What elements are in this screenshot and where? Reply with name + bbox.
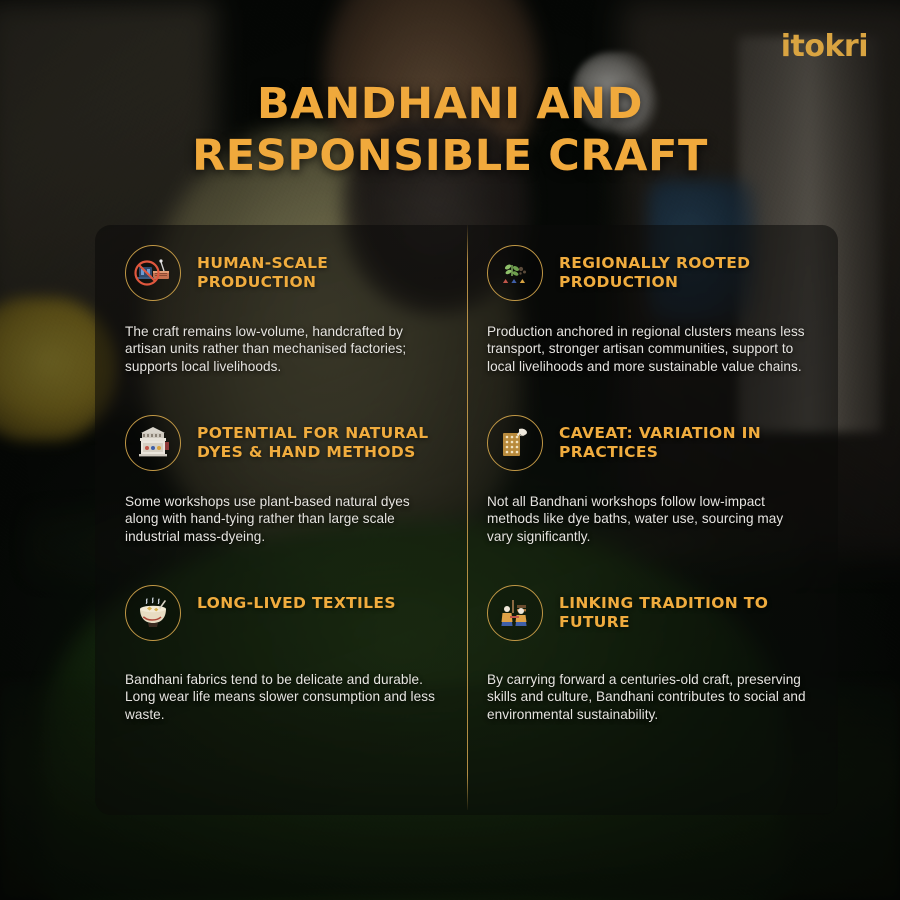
workshop-building-icon (125, 415, 181, 471)
card-body: By carrying forward a centuries-old craf… (487, 671, 812, 723)
itokri-logo[interactable]: itokri (781, 32, 868, 62)
card-body: Bandhani fabrics tend to be delicate and… (125, 671, 441, 723)
card-header: REGIONALLY ROOTED PRODUCTION (487, 245, 812, 301)
card-caveat-variation-in-practices: CAVEAT: VARIATION IN PRACTICES Not all B… (467, 395, 838, 565)
card-title: LONG-LIVED TEXTILES (197, 585, 396, 613)
no-factory-machine-icon (125, 245, 181, 301)
card-header: LONG-LIVED TEXTILES (125, 585, 441, 641)
card-title: CAVEAT: VARIATION IN PRACTICES (559, 415, 812, 462)
card-title: LINKING TRADITION TO FUTURE (559, 585, 812, 632)
card-long-lived-textiles: LONG-LIVED TEXTILES Bandhani fabrics ten… (95, 565, 467, 815)
title-line-1: BANDHANI AND (90, 78, 810, 130)
card-linking-tradition-to-future: LINKING TRADITION TO FUTURE By carrying … (467, 565, 838, 815)
card-human-scale-production: HUMAN-SCALE PRODUCTION The craft remains… (95, 225, 467, 395)
card-header: LINKING TRADITION TO FUTURE (487, 585, 812, 641)
card-title: POTENTIAL FOR NATURAL DYES & HAND METHOD… (197, 415, 441, 462)
card-header: CAVEAT: VARIATION IN PRACTICES (487, 415, 812, 471)
hand-holding-fabric-icon (487, 415, 543, 471)
card-body: Not all Bandhani workshops follow low-im… (487, 493, 812, 545)
card-body: The craft remains low-volume, handcrafte… (125, 323, 441, 375)
card-title: REGIONALLY ROOTED PRODUCTION (559, 245, 812, 292)
cards-grid: HUMAN-SCALE PRODUCTION The craft remains… (95, 225, 838, 815)
logo-text: itokri (781, 29, 868, 64)
page-title: BANDHANI AND RESPONSIBLE CRAFT (0, 78, 900, 183)
card-natural-dyes-hand-methods: POTENTIAL FOR NATURAL DYES & HAND METHOD… (95, 395, 467, 565)
card-header: HUMAN-SCALE PRODUCTION (125, 245, 441, 301)
card-body: Production anchored in regional clusters… (487, 323, 812, 375)
card-title: HUMAN-SCALE PRODUCTION (197, 245, 441, 292)
artisans-weaving-icon (487, 585, 543, 641)
dye-pot-icon (125, 585, 181, 641)
card-header: POTENTIAL FOR NATURAL DYES & HAND METHOD… (125, 415, 441, 471)
card-regionally-rooted-production: REGIONALLY ROOTED PRODUCTION Production … (467, 225, 838, 395)
card-body: Some workshops use plant-based natural d… (125, 493, 441, 545)
sprout-plant-icon (487, 245, 543, 301)
title-line-2: RESPONSIBLE CRAFT (90, 130, 810, 182)
content-panel: HUMAN-SCALE PRODUCTION The craft remains… (95, 225, 838, 815)
